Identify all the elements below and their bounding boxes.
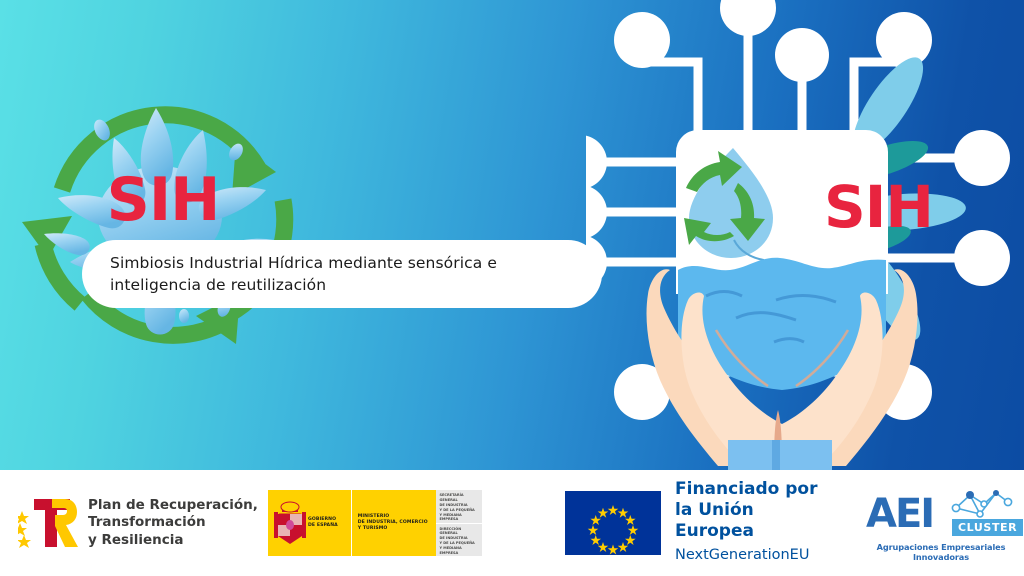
logo-aei-cluster: AEI — [866, 470, 1018, 576]
direccion-general-cell: DIRECCIÓN GENERAL DE INDUSTRIA Y DE LA P… — [436, 524, 483, 557]
right-sih-acronym: SIH — [824, 178, 933, 236]
left-sih-acronym: SIH — [18, 170, 308, 230]
secretaria-general-cell: SECRETARÍA GENERAL DE INDUSTRIA Y DE LA … — [436, 490, 483, 523]
direccion-general-label: DIRECCIÓN GENERAL DE INDUSTRIA Y DE LA P… — [440, 527, 480, 556]
eu-flag-icon — [565, 491, 661, 555]
left-sih-emblem: SIH — [18, 72, 308, 362]
prtr-label: Plan de Recuperación, Transformación y R… — [88, 497, 258, 549]
prtr-mark-icon — [18, 493, 80, 553]
ministerio-cell: MINISTERIO DE INDUSTRIA, COMERCIO Y TURI… — [351, 490, 436, 556]
network-nodes-icon — [950, 488, 1014, 520]
secretaria-cells: SECRETARÍA GENERAL DE INDUSTRIA Y DE LA … — [436, 490, 483, 556]
subtitle-banner: Simbiosis Industrial Hídrica mediante se… — [82, 240, 602, 308]
gobierno-cell: GOBIERNO DE ESPAÑA — [268, 490, 351, 556]
aei-tagline: Agrupaciones Empresariales Innovadoras — [866, 542, 1016, 562]
right-sih-illustration: SIH — [586, 0, 1024, 470]
eu-line-1: Financiado por — [675, 479, 835, 500]
circuit-nodes-icon — [586, 0, 1024, 470]
eu-line-2: la Unión Europea — [675, 500, 835, 542]
gobierno-label: GOBIERNO DE ESPAÑA — [308, 517, 338, 529]
logo-gobierno-espana: GOBIERNO DE ESPAÑA MINISTERIO DE INDUSTR… — [268, 470, 486, 576]
escudo-espana-icon — [272, 500, 308, 546]
ministerio-label: MINISTERIO DE INDUSTRIA, COMERCIO Y TURI… — [358, 514, 428, 533]
aei-cluster-badge: CLUSTER — [952, 519, 1023, 536]
subtitle-text: Simbiosis Industrial Hídrica mediante se… — [110, 252, 540, 297]
secretaria-general-label: SECRETARÍA GENERAL DE INDUSTRIA Y DE LA … — [440, 493, 480, 522]
hero-banner: SIH Simbiosis Industrial Hídrica mediant… — [0, 0, 1024, 470]
eu-line-3: NextGenerationEU — [675, 545, 835, 567]
logo-union-europea: Financiado por la Unión Europea NextGene… — [565, 470, 835, 576]
funding-logos-footer: Plan de Recuperación, Transformación y R… — [0, 470, 1024, 576]
logo-plan-recuperacion: Plan de Recuperación, Transformación y R… — [18, 470, 258, 576]
poster-canvas: SIH Simbiosis Industrial Hídrica mediant… — [0, 0, 1024, 576]
aei-letters: AEI — [866, 494, 933, 534]
